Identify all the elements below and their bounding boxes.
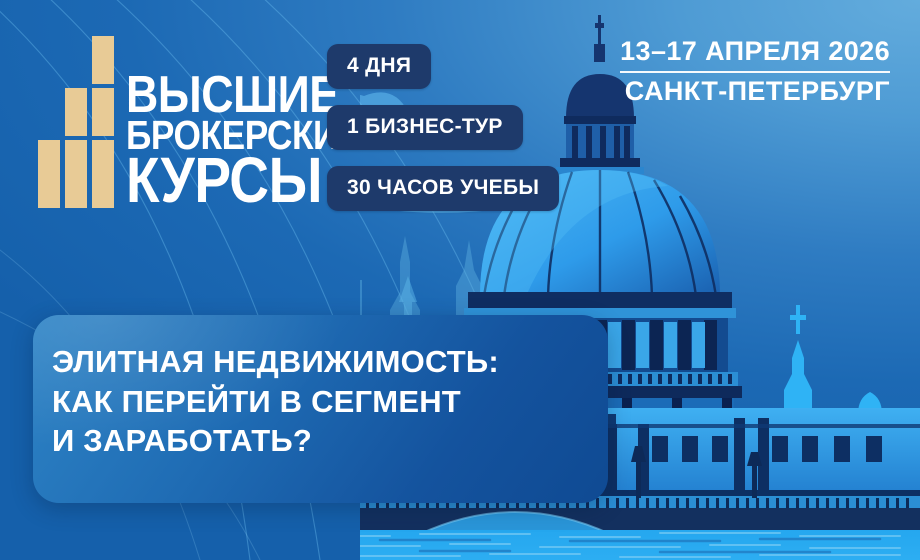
promo-banner: ВЫСШИЕ БРОКЕРСКИЕ КУРСЫ 4 ДНЯ 1 БИЗНЕС-Т… xyxy=(0,0,920,560)
logo-bar xyxy=(92,88,114,136)
badge-study-hours: 30 ЧАСОВ УЧЕБЫ xyxy=(327,166,559,211)
logo-bar xyxy=(65,140,87,208)
logo-bar xyxy=(92,140,114,208)
headline-text: ЭЛИТНАЯ НЕДВИЖИМОСТЬ: КАК ПЕРЕЙТИ В СЕГМ… xyxy=(52,342,592,461)
feature-badge-list: 4 ДНЯ 1 БИЗНЕС-ТУР 30 ЧАСОВ УЧЕБЫ xyxy=(327,44,559,211)
logo-line-3: КУРСЫ xyxy=(126,153,361,208)
divider-rule xyxy=(620,71,890,73)
headline-card: ЭЛИТНАЯ НЕДВИЖИМОСТЬ: КАК ПЕРЕЙТИ В СЕГМ… xyxy=(33,315,608,503)
logo-bar xyxy=(92,36,114,84)
event-city: САНКТ-ПЕТЕРБУРГ xyxy=(620,76,890,107)
event-date-location: 13–17 АПРЕЛЯ 2026 САНКТ-ПЕТЕРБУРГ xyxy=(620,36,890,107)
bar-chart-staircase-logo-icon xyxy=(38,36,114,208)
logo-bar xyxy=(65,88,87,136)
headline-line-3: И ЗАРАБОТАТЬ? xyxy=(52,421,592,461)
badge-business-tour: 1 БИЗНЕС-ТУР xyxy=(327,105,523,150)
badge-duration: 4 ДНЯ xyxy=(327,44,431,89)
logo-bar xyxy=(38,140,60,208)
event-dates: 13–17 АПРЕЛЯ 2026 xyxy=(620,36,890,67)
headline-line-1: ЭЛИТНАЯ НЕДВИЖИМОСТЬ: xyxy=(52,342,592,382)
headline-line-2: КАК ПЕРЕЙТИ В СЕГМЕНТ xyxy=(52,382,592,422)
